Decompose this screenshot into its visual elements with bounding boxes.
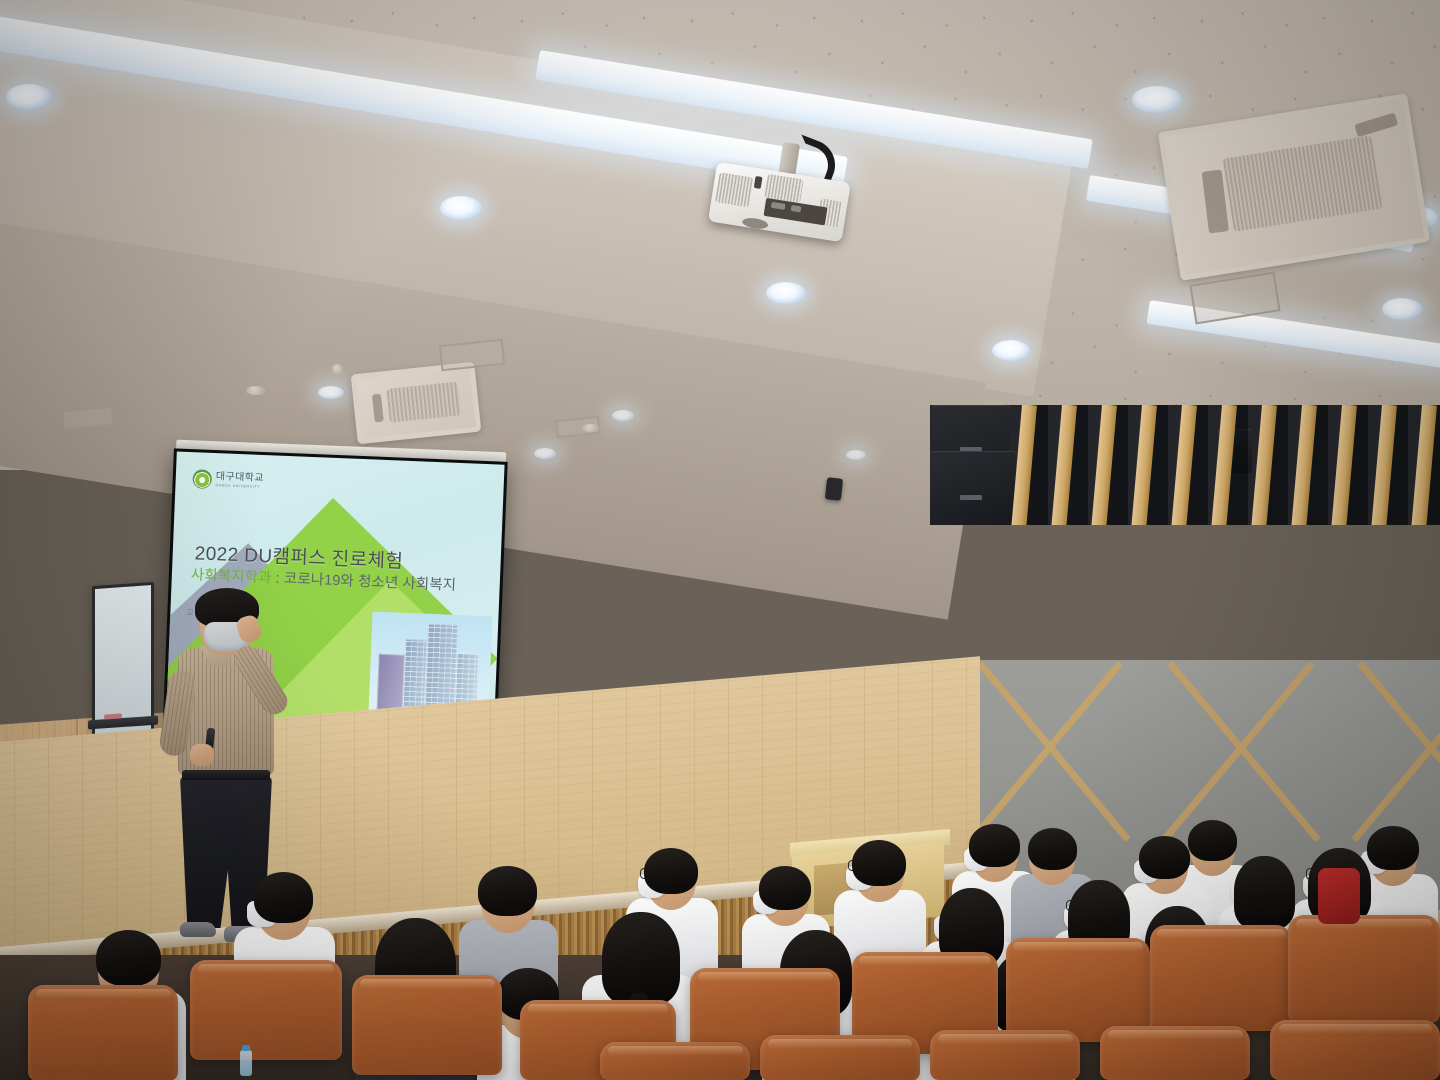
auditorium-seat[interactable] xyxy=(1288,915,1440,1023)
audience-member-hair xyxy=(478,866,536,916)
auditorium-seat[interactable] xyxy=(1150,925,1292,1031)
audience-member-hair xyxy=(96,930,162,986)
auditorium-seat[interactable] xyxy=(28,985,178,1080)
water-bottle xyxy=(240,1050,252,1076)
red-bag-on-seat xyxy=(1318,868,1360,924)
audience-member-hair xyxy=(602,912,680,1005)
auditorium-seat[interactable] xyxy=(352,975,502,1075)
audience-member-hair xyxy=(1028,828,1078,870)
audience-member-hair xyxy=(1139,836,1190,879)
auditorium-photo: 대구대학교 DAEGU UNIVERSITY 2022 DU캠퍼스 진로체험 사… xyxy=(0,0,1440,1080)
audience-member-hair xyxy=(644,848,698,894)
auditorium-seat[interactable] xyxy=(930,1030,1080,1080)
auditorium-seat[interactable] xyxy=(760,1035,920,1080)
audience-member-hair xyxy=(759,866,811,910)
auditorium-seat[interactable] xyxy=(190,960,342,1060)
audience-member-hair xyxy=(254,872,313,923)
auditorium-seat[interactable] xyxy=(600,1042,750,1080)
auditorium-seat[interactable] xyxy=(1270,1020,1440,1080)
audience-member-hair xyxy=(1234,856,1295,929)
auditorium-seat[interactable] xyxy=(1100,1026,1250,1080)
audience-member-hair xyxy=(852,840,906,886)
audience-area xyxy=(0,0,1440,1080)
